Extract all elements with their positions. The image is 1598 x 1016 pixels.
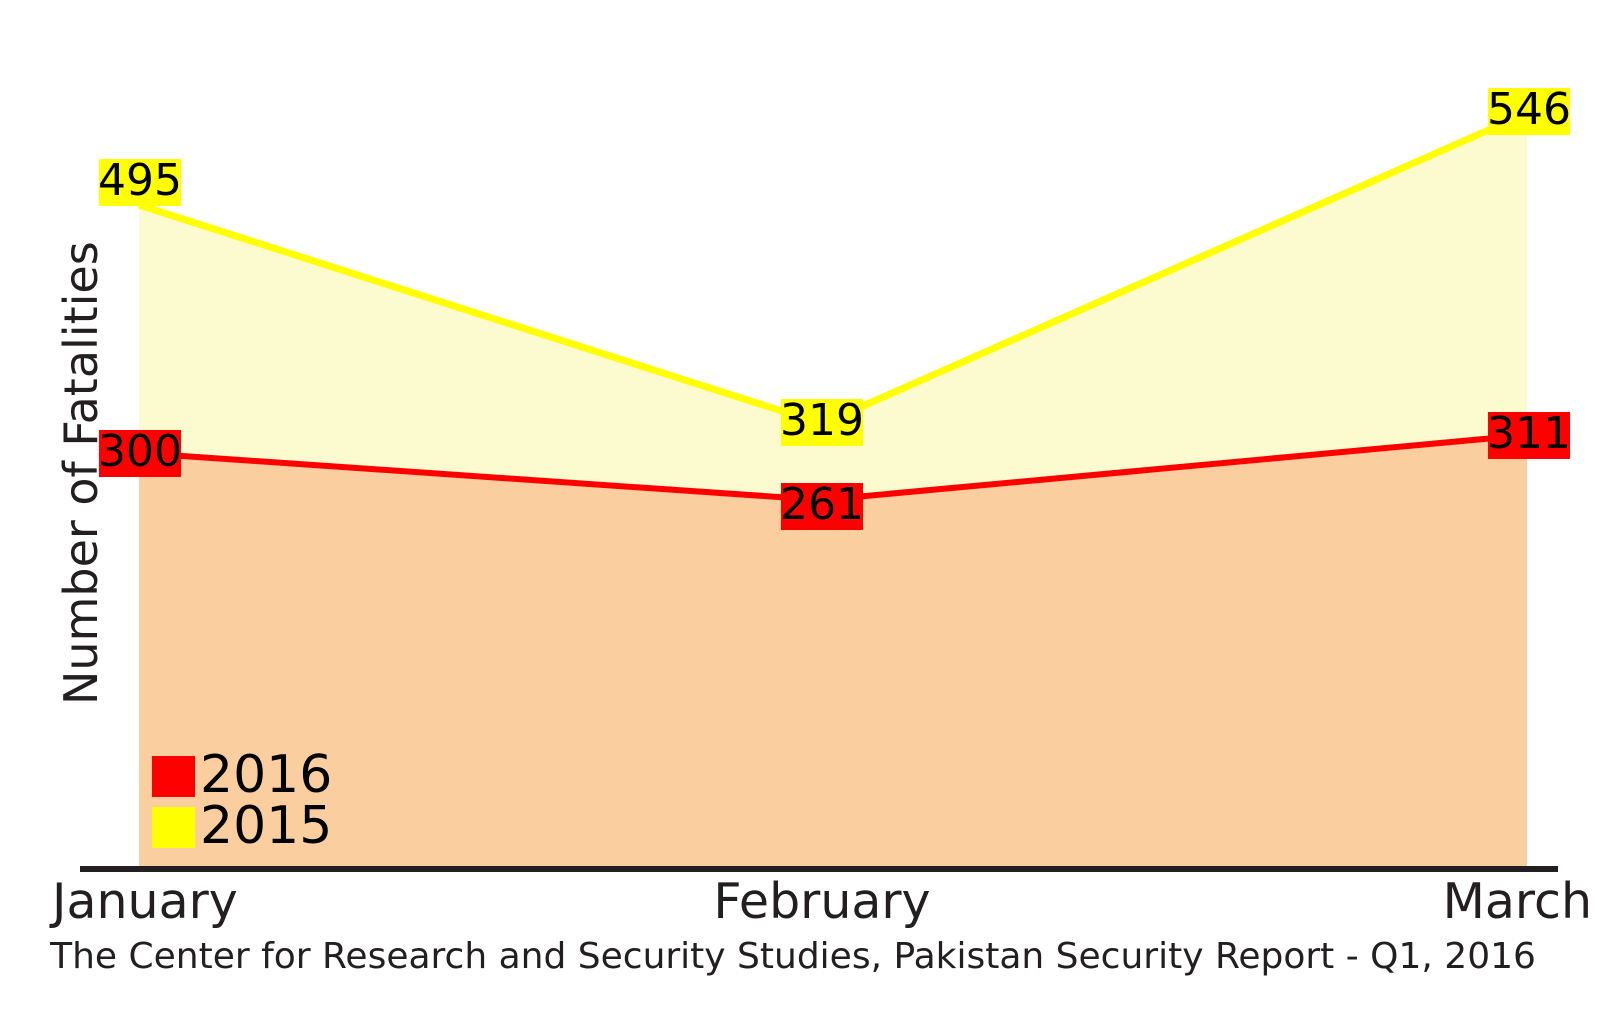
y-axis-title: Number of Fatalities: [54, 241, 108, 705]
legend-swatch-2016: [152, 756, 195, 797]
data-label-2016-february: 261: [780, 479, 864, 530]
data-label-2015-january: 495: [98, 155, 182, 206]
data-label-2016-march-value: 311: [1487, 408, 1571, 459]
fatalities-area-chart: 495 319 546 300 261 311 Number of Fatali…: [0, 0, 1598, 1012]
data-label-2016-january-value: 300: [98, 426, 182, 477]
data-label-2015-february: 319: [780, 395, 864, 446]
data-label-2015-march: 546: [1487, 84, 1571, 135]
data-label-2015-february-value: 319: [780, 395, 864, 446]
data-label-2016-february-value: 261: [780, 479, 864, 530]
data-label-2015-march-value: 546: [1487, 84, 1571, 135]
x-axis-label-march: March: [1443, 873, 1592, 930]
x-axis-label-february: February: [713, 873, 930, 930]
data-label-2016-january: 300: [98, 426, 182, 477]
data-label-2016-march: 311: [1487, 408, 1571, 459]
legend-label-2015: 2015: [200, 796, 332, 856]
data-label-2015-january-value: 495: [98, 155, 182, 206]
legend-swatch-2015: [152, 807, 195, 848]
source-caption: The Center for Research and Security Stu…: [49, 936, 1536, 977]
x-axis-label-january: January: [49, 873, 238, 930]
